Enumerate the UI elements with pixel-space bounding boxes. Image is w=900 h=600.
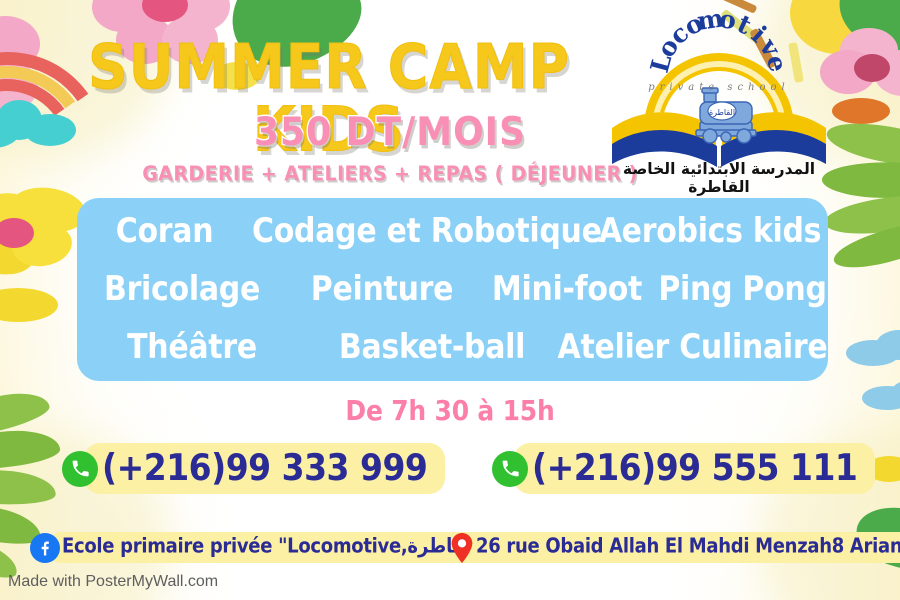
- phone-pill: (+216)99 333 999: [84, 443, 445, 494]
- phone-contact-2[interactable]: (+216)99 555 111: [492, 443, 875, 494]
- activity-item: Codage et Robotique: [252, 209, 592, 254]
- cloud-icon-right1: [846, 330, 900, 366]
- phone-icon: [492, 451, 528, 487]
- facebook-page-name: Ecole primaire privée "Locomotive,القاطر…: [62, 535, 488, 559]
- poster-canvas: Summer Camp Kids 350 DT/MOIS Garderie + …: [0, 0, 900, 600]
- facebook-contact[interactable]: Ecole primaire privée "Locomotive,القاطر…: [30, 532, 502, 563]
- cloud-icon-right2: [862, 380, 900, 412]
- activities-row-2: Bricolage Peinture Mini-foot Ping Pong: [77, 270, 828, 310]
- phone-icon: [62, 451, 98, 487]
- address-pill: 26 rue Obaid Allah El Mahdi Menzah8 Aria…: [462, 532, 900, 563]
- school-logo: القاطرة Locomotive private school المدرس…: [604, 24, 834, 174]
- facebook-icon: [30, 533, 60, 563]
- activities-row-3: Théâtre Basket-ball Atelier Culinaire: [77, 328, 828, 368]
- phone-contact-1[interactable]: (+216)99 333 999: [62, 443, 445, 494]
- activity-item: Atelier Culinaire: [557, 325, 828, 370]
- hours-text: De 7h 30 à 15h: [300, 394, 600, 426]
- activity-item: Ping Pong: [657, 267, 828, 312]
- postermywall-credit: Made with PosterMyWall.com: [8, 573, 218, 591]
- activity-item: Basket-ball: [307, 325, 557, 370]
- address-contact[interactable]: 26 rue Obaid Allah El Mahdi Menzah8 Aria…: [450, 532, 900, 563]
- tagline-text: Garderie + Ateliers + Repas ( déjeuner ): [120, 162, 660, 186]
- activity-item: Bricolage: [77, 267, 287, 312]
- phone-number-1: (+216)99 333 999: [102, 446, 427, 489]
- facebook-pill: Ecole primaire privée "Locomotive,القاطر…: [48, 532, 502, 563]
- activity-item: Mini-foot: [477, 267, 657, 312]
- activity-item: Théâtre: [77, 325, 307, 370]
- activities-row-1: Coran Codage et Robotique Aerobics kids: [77, 212, 828, 252]
- logo-arabic-name: المدرسة الابتدائية الخاصة القاطرة: [604, 160, 834, 196]
- address-text: 26 rue Obaid Allah El Mahdi Menzah8 Aria…: [476, 535, 900, 559]
- location-pin-icon: [450, 533, 474, 563]
- activities-panel: Coran Codage et Robotique Aerobics kids …: [77, 198, 828, 381]
- logo-wordmark: Locomotive: [604, 24, 834, 134]
- activity-item: Aerobics kids: [592, 209, 828, 254]
- activity-item: Coran: [77, 209, 252, 254]
- blob-yellow-left: [0, 288, 58, 322]
- logo-subtitle: private school: [604, 82, 834, 93]
- phone-number-2: (+216)99 555 111: [532, 446, 857, 489]
- phone-pill: (+216)99 555 111: [514, 443, 875, 494]
- activity-item: Peinture: [287, 267, 477, 312]
- price-text: 350 DT/MOIS: [160, 110, 620, 155]
